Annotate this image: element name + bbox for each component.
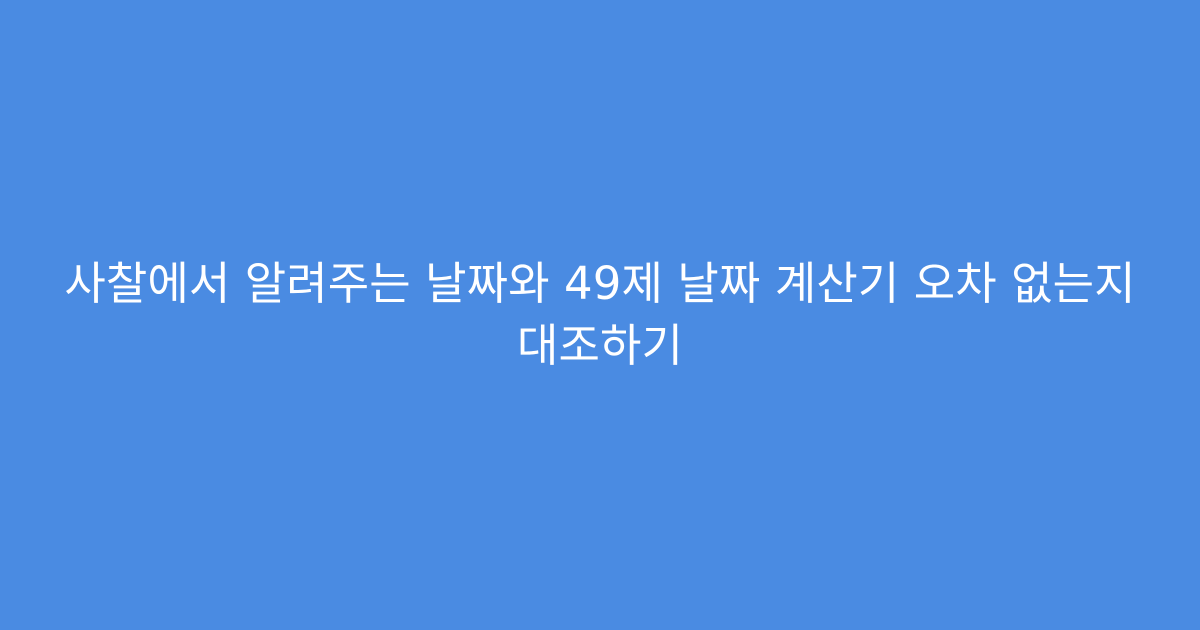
share-card: 사찰에서 알려주는 날짜와 49제 날짜 계산기 오차 없는지 대조하기	[0, 0, 1200, 630]
page-title: 사찰에서 알려주는 날짜와 49제 날짜 계산기 오차 없는지 대조하기	[60, 253, 1140, 377]
